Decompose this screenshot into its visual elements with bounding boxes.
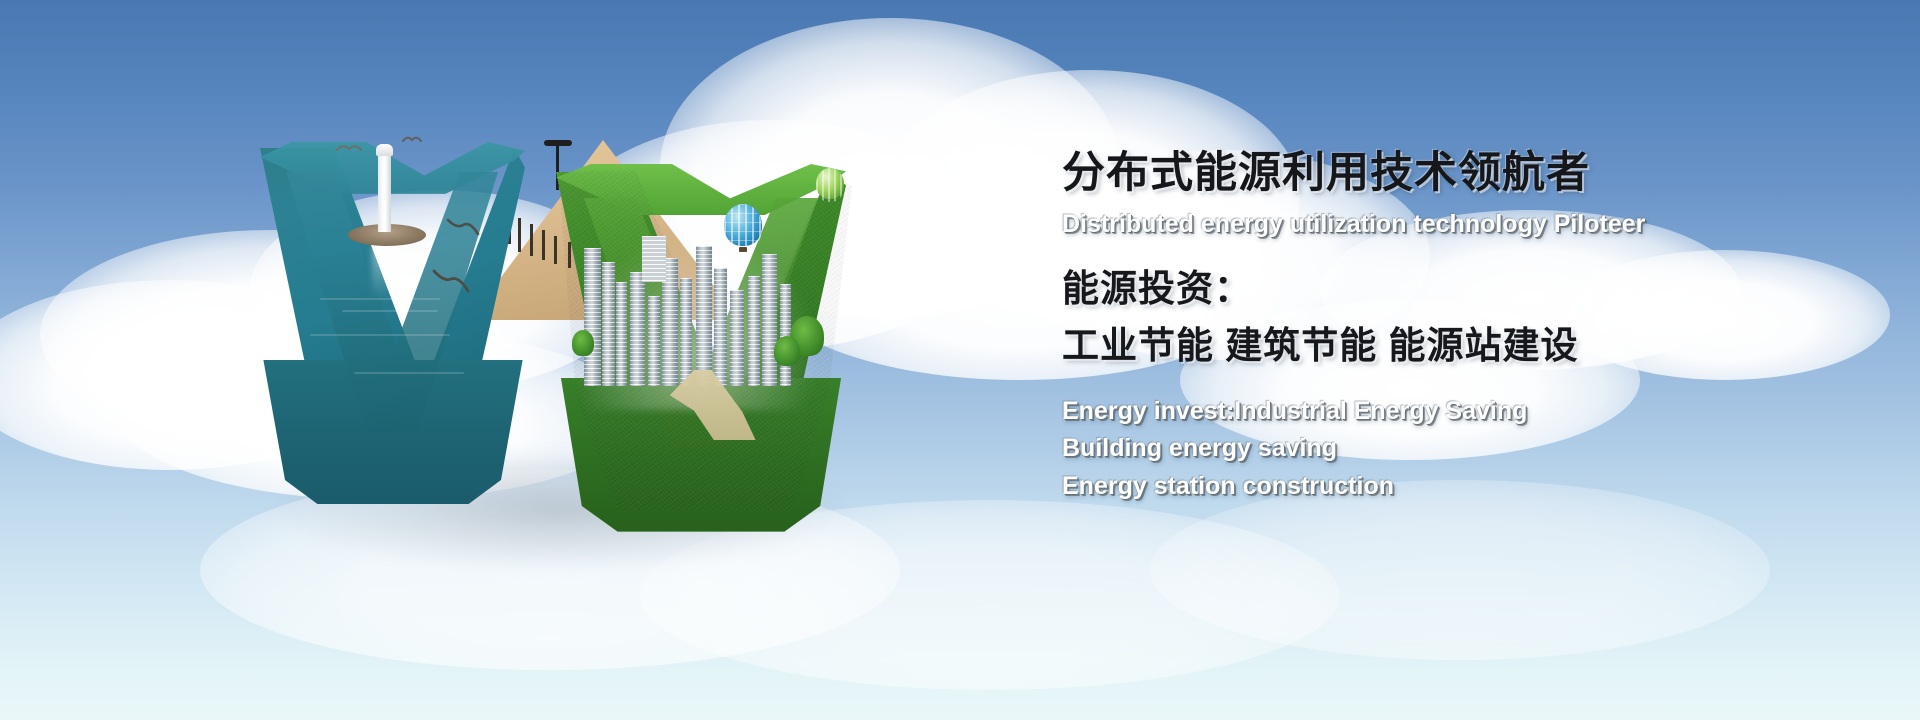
hero-banner: 分布式能源利用技术领航者 Distributed energy utilizat… (0, 0, 1920, 720)
service-english-line-3: Energy station construction (1062, 472, 1802, 501)
bush-icon (572, 330, 594, 356)
building-icon (602, 262, 615, 386)
fence-post-icon (542, 230, 545, 260)
building-icon (730, 290, 744, 386)
balloon-envelope (816, 168, 844, 199)
fence-post-icon (554, 236, 557, 264)
water-ripple (354, 372, 464, 374)
building-icon (762, 254, 777, 386)
building-icon (630, 272, 645, 386)
building-icon (648, 296, 660, 386)
building-icon (748, 276, 760, 386)
water-ripple (342, 310, 438, 312)
building-icon (696, 246, 712, 386)
headline-chinese: 分布式能源利用技术领航者 (1062, 150, 1802, 196)
hot-air-balloon-icon (724, 204, 762, 250)
w-letter-landscape-logo (250, 120, 870, 560)
lighthouse-icon (378, 152, 391, 232)
building-icon (616, 282, 627, 386)
water-ripple (310, 334, 450, 336)
cloud-shape (1150, 480, 1770, 660)
hot-air-balloon-small-icon (816, 168, 844, 202)
lighthouse-lamp-icon (376, 144, 393, 156)
building-icon (680, 278, 692, 386)
water-ripple (320, 298, 440, 300)
service-english-line-2: Building energy saving (1062, 434, 1802, 463)
building-icon (642, 236, 666, 282)
balloon-basket (739, 247, 747, 252)
services-list-chinese: 工业节能 建筑节能 能源站建设 (1062, 326, 1802, 367)
banner-copy: 分布式能源利用技术领航者 Distributed energy utilizat… (1062, 150, 1802, 501)
fence-post-icon (530, 224, 533, 256)
bush-icon (774, 336, 800, 366)
subheadline-english: Distributed energy utilization technolog… (1062, 210, 1802, 239)
building-icon (584, 248, 601, 386)
fence-post-icon (518, 218, 521, 252)
building-icon (714, 268, 727, 386)
seagull-icon (402, 134, 422, 144)
balloon-envelope (724, 204, 762, 246)
invest-label-chinese: 能源投资： (1062, 269, 1802, 310)
service-english-line-1: Energy invest:Industrial Energy Saving (1062, 397, 1802, 426)
lighthouse-reflection (372, 246, 396, 298)
wind-turbine-hub-icon (544, 140, 572, 146)
